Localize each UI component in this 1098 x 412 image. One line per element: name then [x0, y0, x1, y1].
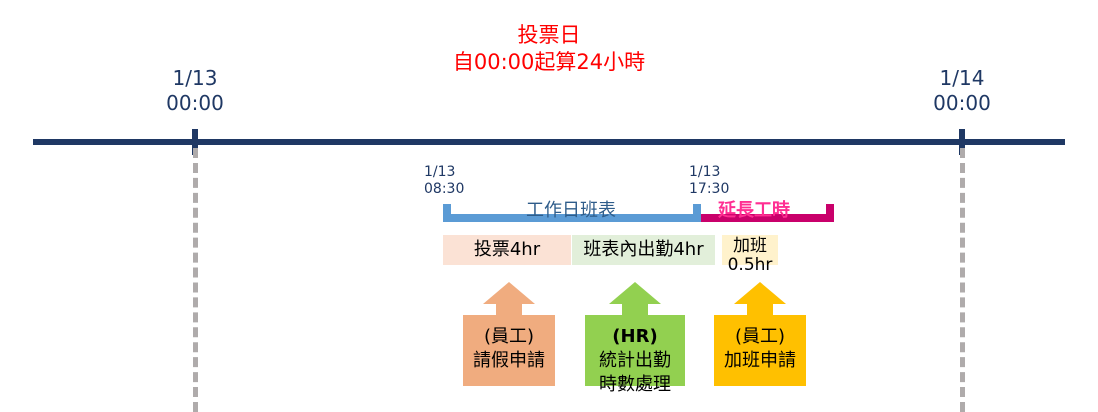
headline-line-2: 自00:00起算24小時 [399, 49, 699, 76]
callout-leave-application-actor: (員工) [463, 325, 555, 349]
callout-overtime-application-actor: (員工) [714, 325, 806, 349]
callout-overtime-application-body: (員工) 加班申請 [714, 315, 806, 386]
duration-bar-scheduled-attendance: 班表內出勤4hr [572, 235, 715, 265]
workday-shift-bracket-label: 工作日班表 [526, 200, 616, 222]
overtime-bracket-cap-right [826, 204, 834, 222]
callout-overtime-application-line-2: 加班申請 [714, 349, 806, 373]
axis-end-label: 1/14 00:00 [882, 66, 1042, 116]
axis-start-time: 00:00 [115, 91, 275, 116]
headline-block: 投票日 自00:00起算24小時 [399, 22, 699, 76]
duration-bar-overtime: 加班 0.5hr [722, 235, 778, 265]
callout-hr-attendance-processing-line-2: 統計出勤 [585, 349, 685, 373]
axis-start-label: 1/13 00:00 [115, 66, 275, 116]
axis-end-date: 1/14 [882, 66, 1042, 91]
shift-end-time: 17:30 [689, 181, 729, 198]
workday-shift-bracket-cap-right [693, 204, 701, 222]
arrow-up-icon [483, 282, 535, 304]
shift-start-date: 1/13 [424, 164, 464, 181]
shift-end-date: 1/13 [689, 164, 729, 181]
callout-hr-attendance-processing: (HR) 統計出勤 時數處理 [585, 282, 685, 386]
guide-dash-end [960, 148, 965, 412]
callout-hr-attendance-processing-actor: (HR) [585, 325, 685, 349]
overtime-bracket-label: 延長工時 [718, 200, 790, 222]
axis-end-time: 00:00 [882, 91, 1042, 116]
callout-leave-application-line-2: 請假申請 [463, 349, 555, 373]
callout-overtime-application: (員工) 加班申請 [714, 282, 806, 386]
duration-bar-overtime-line-2: 0.5hr [722, 256, 778, 275]
guide-dash-start [193, 148, 198, 412]
callout-hr-attendance-processing-line-3: 時數處理 [585, 373, 685, 397]
workday-shift-bracket-cap-left [443, 204, 451, 222]
callout-hr-attendance-processing-body: (HR) 統計出勤 時數處理 [585, 315, 685, 386]
duration-bar-voting: 投票4hr [443, 235, 571, 265]
timeline-diagram: 投票日 自00:00起算24小時 1/13 00:00 1/14 00:00 1… [0, 0, 1098, 412]
shift-start-time: 08:30 [424, 181, 464, 198]
axis-start-date: 1/13 [115, 66, 275, 91]
callout-leave-application-body: (員工) 請假申請 [463, 315, 555, 386]
callout-leave-application: (員工) 請假申請 [463, 282, 555, 386]
shift-end-label: 1/13 17:30 [689, 164, 729, 198]
arrow-up-icon [609, 282, 661, 304]
shift-start-label: 1/13 08:30 [424, 164, 464, 198]
duration-bar-overtime-line-1: 加班 [722, 237, 778, 256]
headline-line-1: 投票日 [399, 22, 699, 49]
timeline-axis [33, 139, 1065, 145]
arrow-up-icon [734, 282, 786, 304]
